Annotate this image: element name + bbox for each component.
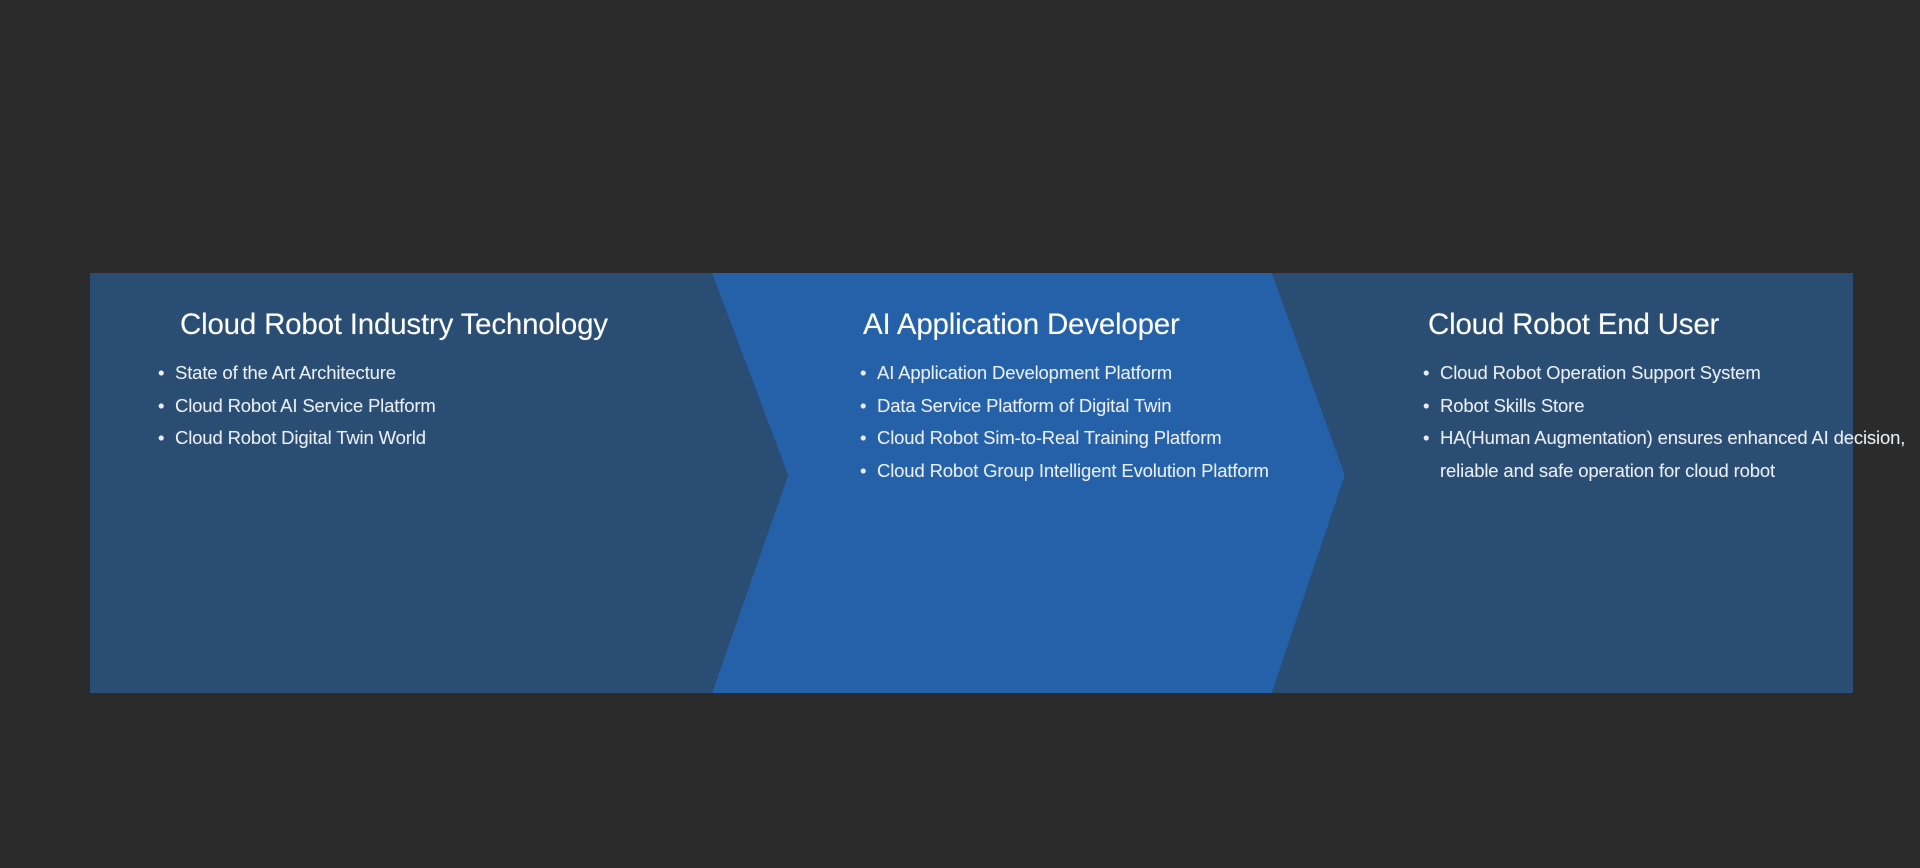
bullet-glyph-icon: • [1423,357,1440,390]
list-item-label: Robot Skills Store [1440,395,1584,416]
stage-panel-3: Cloud Robot End User • Cloud Robot Opera… [1350,273,1853,693]
list-item-label: State of the Art Architecture [175,362,396,383]
list-item-label: Cloud Robot AI Service Platform [175,395,436,416]
list-item: • State of the Art Architecture [158,357,436,390]
list-item: • Cloud Robot Operation Support System [1423,357,1912,390]
bullet-glyph-icon: • [860,422,877,455]
bullet-glyph-icon: • [1423,422,1440,455]
list-item: • HA(Human Augmentation) ensures enhance… [1423,422,1912,487]
stage-1-bullet-list: • State of the Art Architecture • Cloud … [158,357,436,455]
list-item-label: Cloud Robot Digital Twin World [175,427,426,448]
list-item: • Cloud Robot Group Intelligent Evolutio… [860,455,1269,488]
stage-2-title: AI Application Developer [863,308,1180,342]
bullet-glyph-icon: • [1423,390,1440,423]
bullet-glyph-icon: • [860,455,877,488]
stage-1-title: Cloud Robot Industry Technology [180,308,608,342]
bullet-glyph-icon: • [158,422,175,455]
bullet-glyph-icon: • [860,357,877,390]
list-item-label: Cloud Robot Group Intelligent Evolution … [877,460,1269,481]
bullet-glyph-icon: • [158,390,175,423]
list-item: • Robot Skills Store [1423,390,1912,423]
list-item: • Data Service Platform of Digital Twin [860,390,1269,423]
list-item: • Cloud Robot AI Service Platform [158,390,436,423]
stage-panel-1: Cloud Robot Industry Technology • State … [90,273,790,693]
list-item-label: AI Application Development Platform [877,362,1172,383]
chevron-banner: Cloud Robot Industry Technology • State … [90,273,1853,693]
stage-3-bullet-list: • Cloud Robot Operation Support System •… [1423,357,1912,487]
list-item-label: HA(Human Augmentation) ensures enhanced … [1440,427,1905,481]
list-item-label: Cloud Robot Sim-to-Real Training Platfor… [877,427,1221,448]
list-item: • Cloud Robot Sim-to-Real Training Platf… [860,422,1269,455]
stage-panel-2: AI Application Developer • AI Applicatio… [790,273,1350,693]
list-item: • Cloud Robot Digital Twin World [158,422,436,455]
stage-2-bullet-list: • AI Application Development Platform • … [860,357,1269,487]
bullet-glyph-icon: • [860,390,877,423]
list-item-label: Cloud Robot Operation Support System [1440,362,1761,383]
slide-canvas: Cloud Robot Industry Technology • State … [0,0,1920,868]
list-item-label: Data Service Platform of Digital Twin [877,395,1171,416]
stage-3-title: Cloud Robot End User [1428,308,1719,342]
list-item: • AI Application Development Platform [860,357,1269,390]
bullet-glyph-icon: • [158,357,175,390]
